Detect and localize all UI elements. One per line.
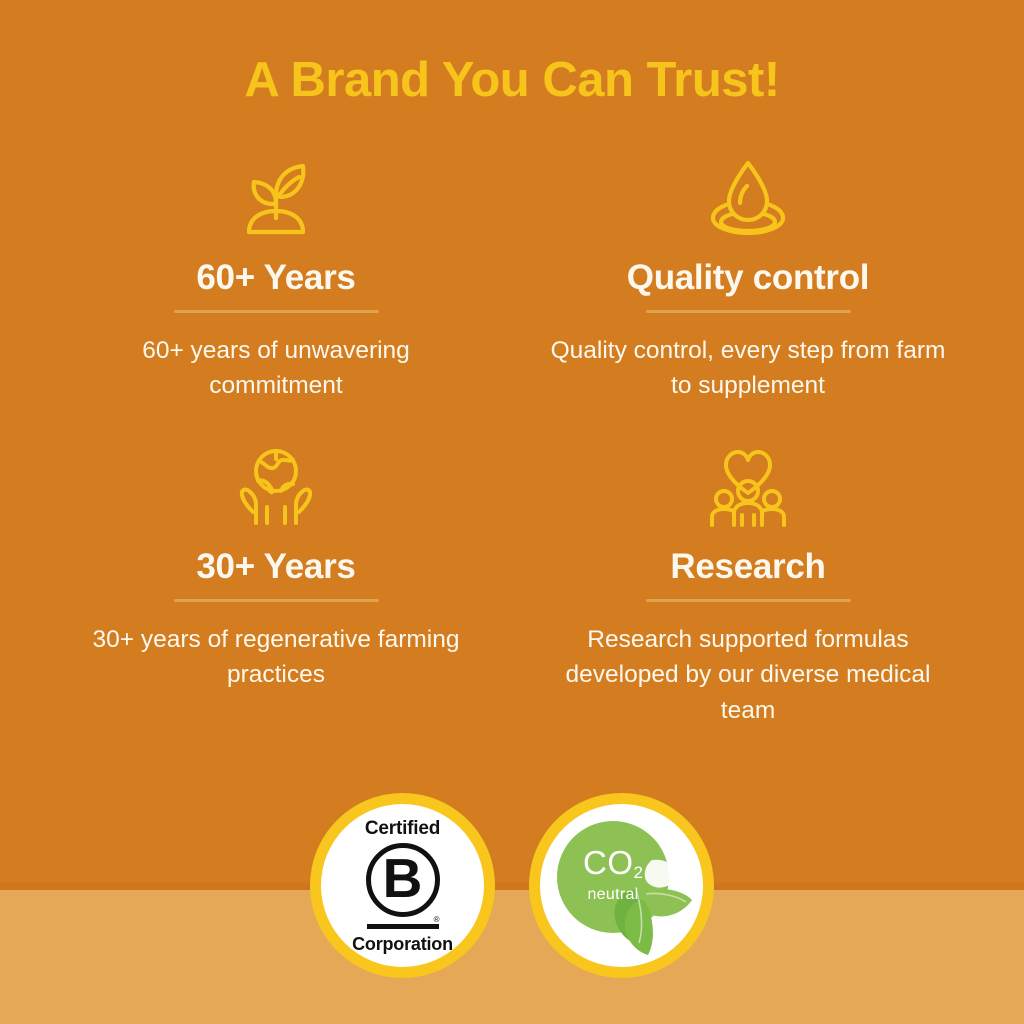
people-heart-icon — [700, 441, 796, 533]
co2-main-label: CO — [583, 844, 634, 881]
feature-card-research: Research Research supported formulas dev… — [512, 441, 984, 727]
feature-heading: 60+ Years — [196, 258, 355, 297]
certification-badges: Certified B ® Corporation — [0, 793, 1024, 978]
bcorp-rule — [367, 924, 439, 929]
feature-grid: 60+ Years 60+ years of unwavering commit… — [40, 152, 984, 728]
co2-subscript: 2 — [634, 863, 643, 882]
bcorp-circle-mark: B — [366, 843, 440, 917]
feature-body: Quality control, every step from farm to… — [551, 333, 946, 403]
co2-stage: CO2 neutral — [540, 804, 703, 967]
feature-card-years-60: 60+ Years 60+ years of unwavering commit… — [40, 152, 512, 403]
co2-neutral-label: neutral — [557, 887, 669, 903]
bcorp-bottom-label: Corporation — [352, 935, 453, 953]
feature-divider — [646, 310, 851, 313]
feature-body: 60+ years of unwavering commitment — [79, 333, 474, 403]
badge-inner-disc: Certified B ® Corporation — [321, 804, 484, 967]
feature-card-quality-control: Quality control Quality control, every s… — [512, 152, 984, 403]
sprout-icon — [228, 152, 324, 244]
feature-heading: Research — [670, 547, 825, 586]
feature-divider — [646, 599, 851, 602]
bcorp-top-label: Certified — [365, 819, 440, 838]
feature-body: Research supported formulas developed by… — [551, 622, 946, 727]
promo-poster: A Brand You Can Trust! 60+ Years 60+ yea… — [0, 0, 1024, 1024]
feature-heading: Quality control — [627, 258, 869, 297]
feature-divider — [174, 599, 379, 602]
bcorp-letter: B — [383, 851, 423, 906]
feature-divider — [174, 310, 379, 313]
hands-holding-globe-icon — [228, 441, 324, 533]
registered-trademark-icon: ® — [434, 916, 440, 924]
feature-body: 30+ years of regenerative farming practi… — [79, 622, 474, 692]
certified-b-corporation-badge: Certified B ® Corporation — [310, 793, 495, 978]
water-drop-ripple-icon — [700, 152, 796, 244]
co2-neutral-badge: CO2 neutral — [529, 793, 714, 978]
bcorp-rule-wrap: ® — [367, 924, 439, 929]
badge-inner-disc: CO2 neutral — [540, 804, 703, 967]
page-title: A Brand You Can Trust! — [0, 54, 1024, 108]
feature-heading: 30+ Years — [196, 547, 355, 586]
feature-card-years-30: 30+ Years 30+ years of regenerative farm… — [40, 441, 512, 727]
co2-label-group: CO2 neutral — [557, 846, 669, 903]
